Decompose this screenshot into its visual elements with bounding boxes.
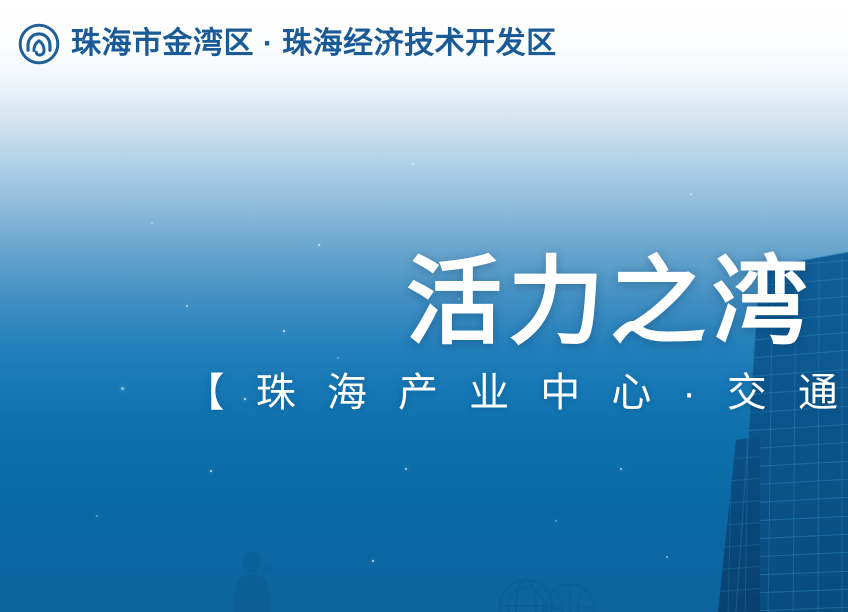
sparkle-dot [244,398,246,400]
sparkle-dot [96,515,98,517]
skyscraper-icon [718,250,848,612]
sparkle-dot [337,357,339,359]
statue-silhouette [222,548,292,612]
sparkle-dot [121,387,124,390]
sparkle-dot [283,330,285,332]
brand-link[interactable]: 珠海市金湾区 · 珠海经济技术开发区 [18,23,557,65]
sparkle-dot [666,556,668,558]
statue-icon [222,548,292,612]
sparkle-dot [775,540,777,542]
sparkle-dot [690,193,692,195]
sparkle-dot [748,466,750,468]
sparkle-dot [186,305,188,307]
site-header: 珠海市金湾区 · 珠海经济技术开发区 [0,0,848,88]
globe-sculpture-silhouette [484,572,602,612]
hero-title: 活力之湾 [0,255,848,351]
brand-name: 珠海市金湾区 · 珠海经济技术开发区 [71,29,557,59]
sparkle-dot [620,468,622,470]
sparkle-dot [210,470,212,472]
hero-section: 活力之湾 【 珠 海 产 业 中 心 · 交 通 [0,255,848,413]
sparkle-dot [458,298,460,300]
zhuhai-jinwan-emblem-icon [18,23,60,65]
hero-subtitle: 【 珠 海 产 业 中 心 · 交 通 [0,351,848,413]
sparkle-dot [372,560,374,562]
sparkle-dot [318,244,320,246]
sparkle-dot [151,222,153,224]
sparkle-dot [412,163,414,165]
sparkle-dot [519,340,521,342]
skyscraper-silhouette [718,250,848,612]
sparkle-particle-layer [0,0,848,612]
promo-banner-page: 珠海市金湾区 · 珠海经济技术开发区 活力之湾 【 珠 海 产 业 中 心 · … [0,0,848,612]
sparkle-dot [555,520,557,522]
sparkle-dot [405,468,407,470]
globe-sculpture-icon [484,572,602,612]
